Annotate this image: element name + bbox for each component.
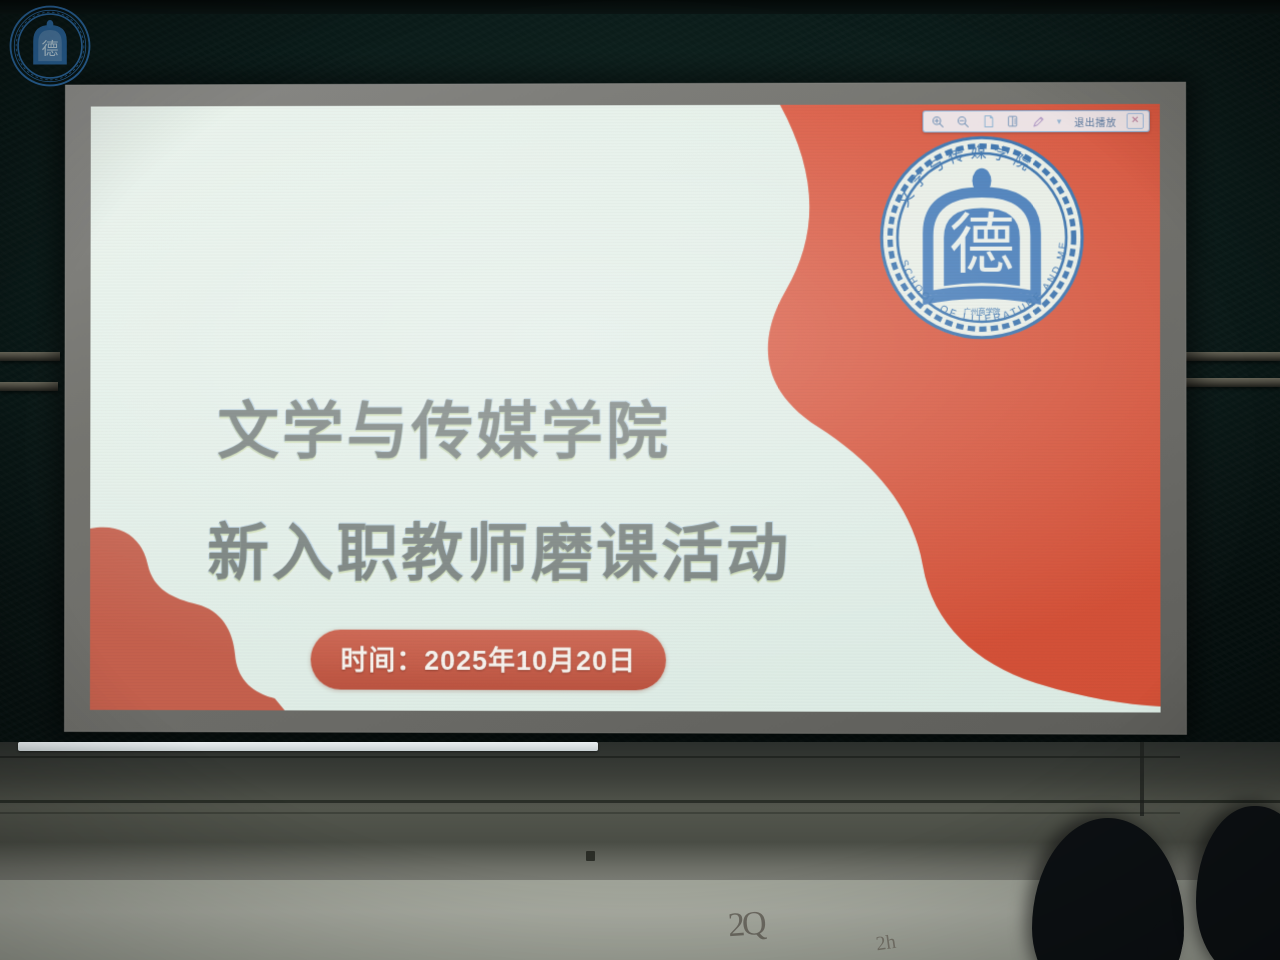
desk-white-ledge — [18, 742, 598, 751]
desk-edge-line-lower — [0, 812, 1180, 814]
desk-edge-line-upper — [0, 756, 1180, 758]
projection-screen-surface: 德 文学与传媒学院 SCHOOL OF LITERATURE AND MEDIA… — [90, 104, 1161, 713]
chalk-rail-left-upper — [0, 352, 60, 361]
slide-school-emblem-icon: 德 文学与传媒学院 SCHOOL OF LITERATURE AND MEDIA… — [876, 132, 1087, 343]
desk-edge-line-middle — [0, 800, 1280, 803]
svg-text:德: 德 — [42, 38, 59, 58]
slide-title-line-2: 新入职教师磨课活动 — [207, 503, 791, 594]
classroom-scene: 德 — [0, 0, 1280, 960]
presentation-player-toolbar[interactable]: ▾ 退出播放 ✕ — [922, 110, 1149, 133]
pen-icon[interactable] — [1029, 112, 1048, 130]
chalk-scribble: 2Q — [727, 905, 765, 945]
slide-title-line-1: 文学与传媒学院 — [217, 381, 671, 471]
page-icon[interactable] — [979, 112, 998, 130]
projection-screen-frame: 德 文学与传媒学院 SCHOOL OF LITERATURE AND MEDIA… — [64, 82, 1187, 735]
blackboard-top-strip — [0, 0, 1280, 14]
chalk-scribble-secondary: 2h — [874, 931, 897, 957]
presentation-slide: 德 文学与传媒学院 SCHOOL OF LITERATURE AND MEDIA… — [90, 104, 1161, 713]
chalk-rail-left-lower — [0, 382, 58, 391]
exit-playback-button[interactable]: 退出播放 — [1070, 114, 1120, 129]
close-icon[interactable]: ✕ — [1127, 113, 1144, 129]
chevron-down-icon[interactable]: ▾ — [1054, 112, 1064, 130]
svg-text:广州商学院: 广州商学院 — [963, 306, 1001, 315]
zoom-in-icon[interactable] — [928, 112, 947, 130]
svg-text:德: 德 — [949, 208, 1014, 283]
zoom-out-icon[interactable] — [954, 112, 973, 130]
two-page-icon[interactable] — [1004, 112, 1023, 130]
slide-date-badge: 时间：2025年10月20日 — [311, 630, 667, 691]
desk-panel-edge — [1140, 742, 1144, 816]
school-emblem-watermark-icon: 德 — [8, 4, 92, 88]
desk-knob — [586, 851, 595, 861]
